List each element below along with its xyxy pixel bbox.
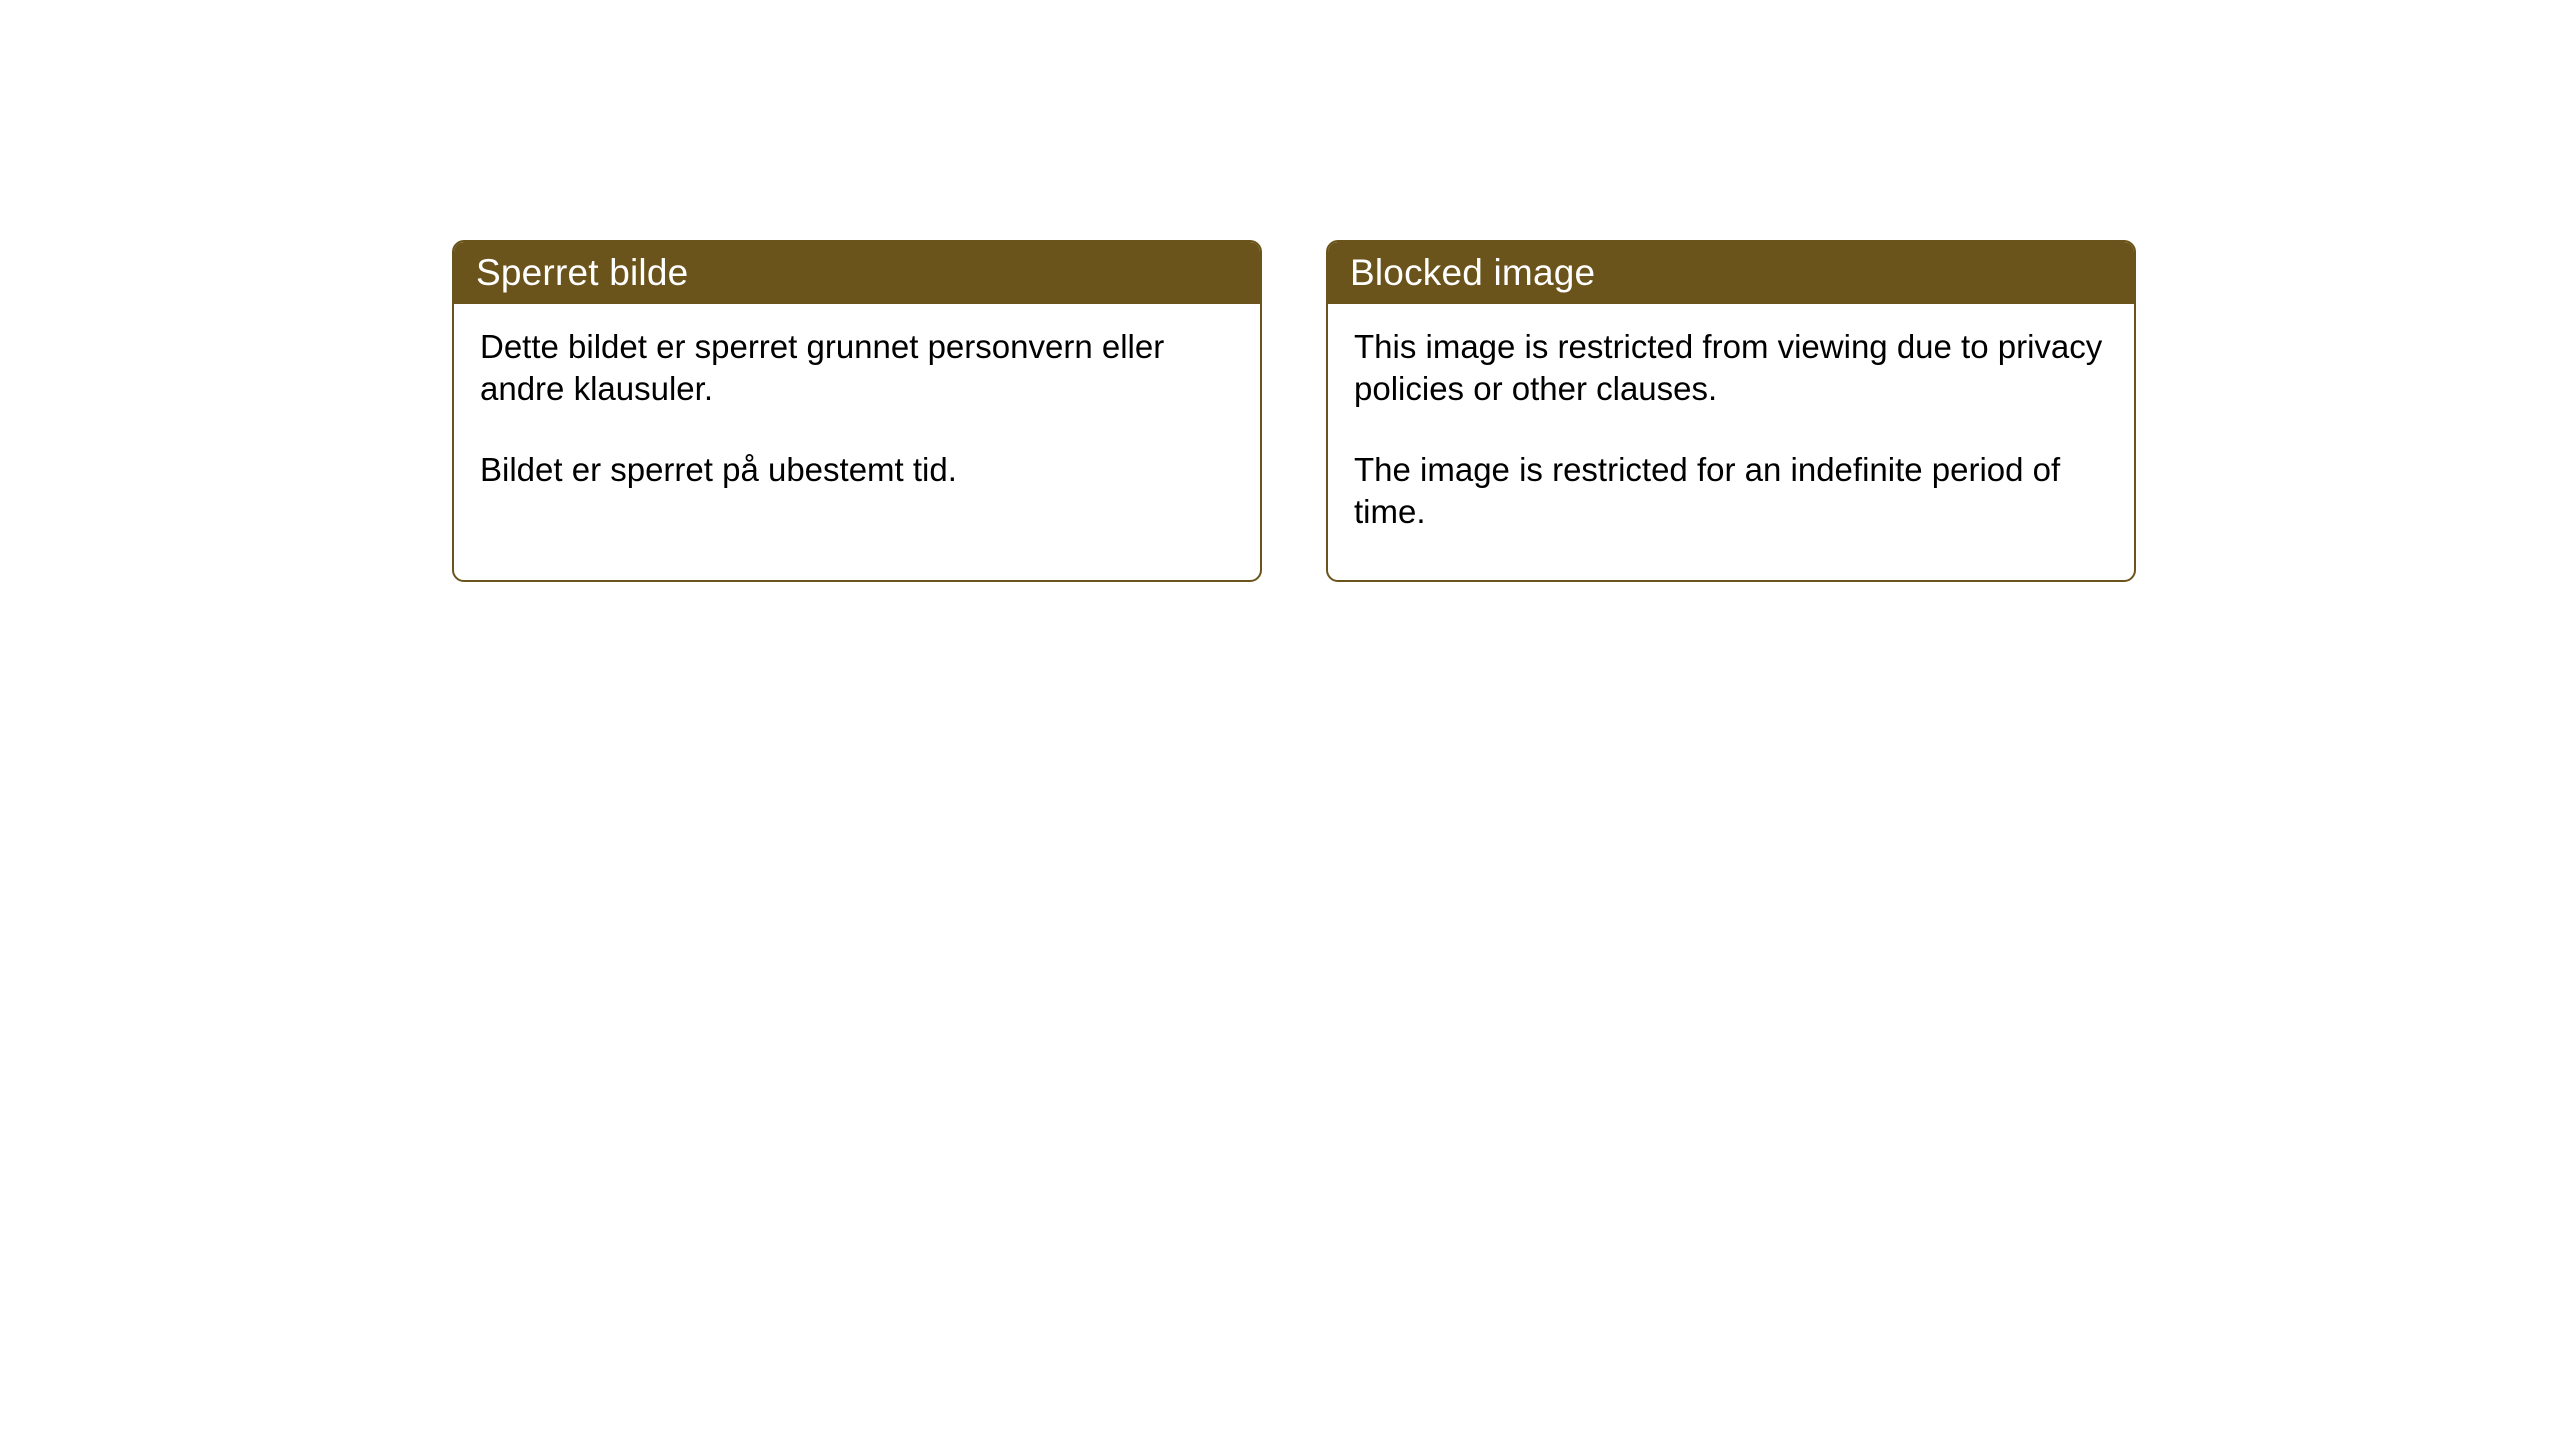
card-body-norwegian: Dette bildet er sperret grunnet personve… — [454, 304, 1260, 491]
card-header-english: Blocked image — [1326, 240, 2136, 304]
card-paragraph-duration-english: The image is restricted for an indefinit… — [1354, 449, 2104, 532]
card-header-norwegian: Sperret bilde — [452, 240, 1262, 304]
card-paragraph-reason-norwegian: Dette bildet er sperret grunnet personve… — [480, 326, 1230, 409]
blocked-image-card-norwegian: Sperret bilde Dette bildet er sperret gr… — [452, 240, 1262, 582]
card-paragraph-duration-norwegian: Bildet er sperret på ubestemt tid. — [480, 449, 1230, 491]
card-body-english: This image is restricted from viewing du… — [1328, 304, 2134, 532]
page-canvas: Sperret bilde Dette bildet er sperret gr… — [0, 0, 2560, 1440]
card-title-norwegian: Sperret bilde — [476, 254, 688, 291]
card-paragraph-reason-english: This image is restricted from viewing du… — [1354, 326, 2104, 409]
card-title-english: Blocked image — [1350, 254, 1595, 291]
blocked-image-card-english: Blocked image This image is restricted f… — [1326, 240, 2136, 582]
